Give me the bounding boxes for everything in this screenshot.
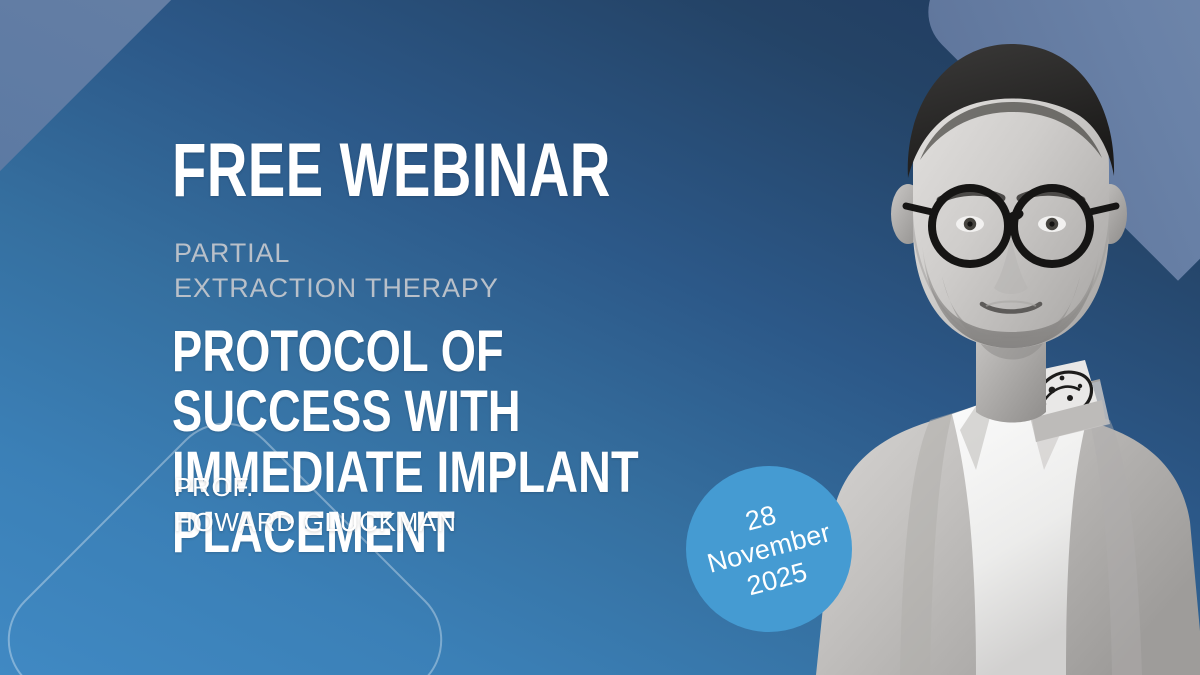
subtitle-text: PARTIAL EXTRACTION THERAPY [174, 236, 499, 305]
date-badge: 28 November 2025 [686, 466, 852, 632]
webinar-banner: FREE WEBINAR PARTIAL EXTRACTION THERAPY … [0, 0, 1200, 675]
kicker-heading: FREE WEBINAR [172, 136, 611, 206]
date-badge-label: 28 November 2025 [696, 487, 842, 610]
speaker-name: PROF. HOWARD GLUCKMAN [174, 470, 457, 539]
